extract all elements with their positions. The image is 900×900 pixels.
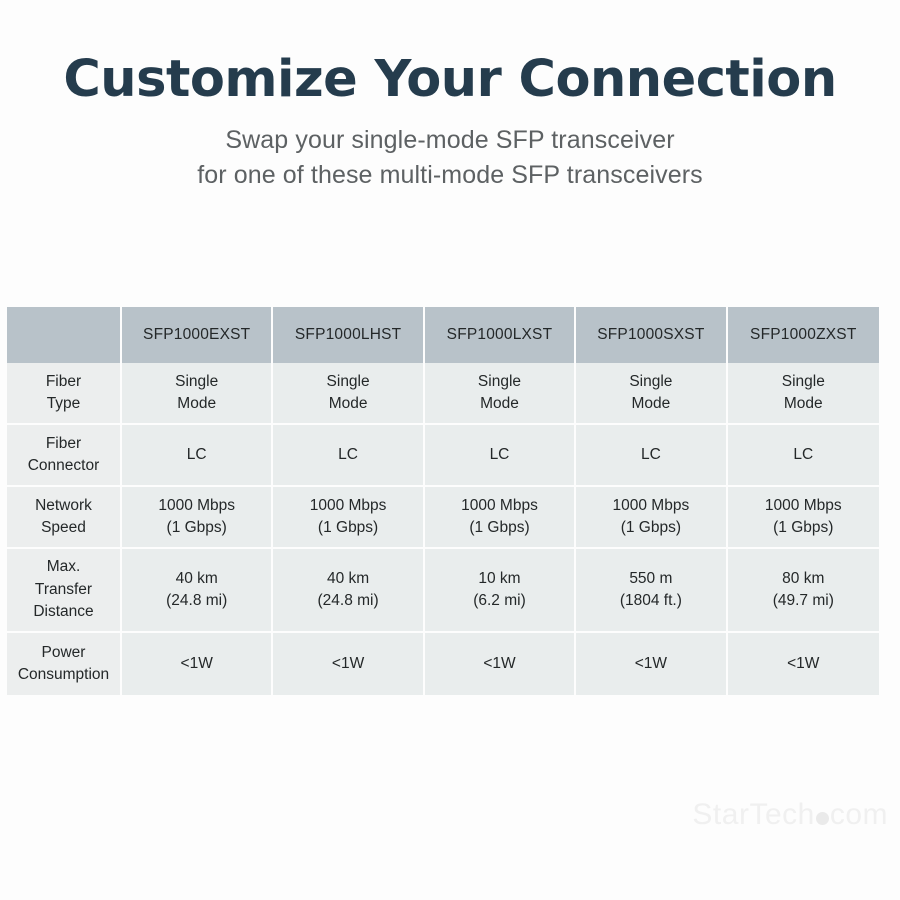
cell-fiber-type-sfp1000lhst: Single Mode bbox=[273, 363, 424, 425]
cell-line-1: 80 km bbox=[732, 568, 875, 590]
row-label-network-speed: Network Speed bbox=[7, 487, 122, 549]
row-label-line-2: Type bbox=[11, 393, 116, 415]
cell-power-consumption-sfp1000zxst: <1W bbox=[728, 633, 879, 695]
column-header-sfp1000sxst: SFP1000SXST bbox=[576, 307, 727, 363]
table-row-fiber-connector: Fiber Connector LC LC LC LC bbox=[7, 425, 879, 487]
row-label-line-1: Fiber bbox=[11, 433, 116, 455]
table-corner-cell bbox=[7, 307, 122, 363]
row-label-line-2: Connector bbox=[11, 455, 116, 477]
row-label-fiber-connector: Fiber Connector bbox=[7, 425, 122, 487]
cell-max-transfer-distance-sfp1000lxst: 10 km (6.2 mi) bbox=[425, 549, 576, 633]
cell-line-1: Single bbox=[126, 371, 267, 393]
cell-line-1: Single bbox=[277, 371, 418, 393]
table-row-max-transfer-distance: Max. Transfer Distance 40 km (24.8 mi) 4… bbox=[7, 549, 879, 633]
cell-power-consumption-sfp1000lhst: <1W bbox=[273, 633, 424, 695]
cell-max-transfer-distance-sfp1000lhst: 40 km (24.8 mi) bbox=[273, 549, 424, 633]
row-label-line-3: Distance bbox=[11, 601, 116, 623]
page-subtitle-line-1: Swap your single-mode SFP transceiver bbox=[0, 123, 900, 158]
watermark-dot-icon bbox=[816, 812, 829, 825]
cell-line-1: <1W bbox=[277, 653, 418, 675]
row-label-fiber-type: Fiber Type bbox=[7, 363, 122, 425]
cell-max-transfer-distance-sfp1000exst: 40 km (24.8 mi) bbox=[122, 549, 273, 633]
table-header: SFP1000EXST SFP1000LHST SFP1000LXST SFP1… bbox=[7, 307, 879, 363]
cell-fiber-type-sfp1000exst: Single Mode bbox=[122, 363, 273, 425]
column-header-sfp1000lhst: SFP1000LHST bbox=[273, 307, 424, 363]
cell-power-consumption-sfp1000lxst: <1W bbox=[425, 633, 576, 695]
cell-line-2: (49.7 mi) bbox=[732, 590, 875, 612]
table-row-network-speed: Network Speed 1000 Mbps (1 Gbps) 1000 Mb… bbox=[7, 487, 879, 549]
cell-fiber-connector-sfp1000lxst: LC bbox=[425, 425, 576, 487]
cell-line-2: Mode bbox=[429, 393, 570, 415]
cell-line-1: 40 km bbox=[126, 568, 267, 590]
table-header-row: SFP1000EXST SFP1000LHST SFP1000LXST SFP1… bbox=[7, 307, 879, 363]
cell-line-1: 1000 Mbps bbox=[277, 495, 418, 517]
column-header-sfp1000lxst: SFP1000LXST bbox=[425, 307, 576, 363]
cell-line-1: LC bbox=[429, 444, 570, 466]
cell-line-1: 1000 Mbps bbox=[429, 495, 570, 517]
cell-line-1: 1000 Mbps bbox=[732, 495, 875, 517]
row-label-line-1: Power bbox=[11, 642, 116, 664]
cell-fiber-connector-sfp1000zxst: LC bbox=[728, 425, 879, 487]
cell-line-2: (1804 ft.) bbox=[580, 590, 721, 612]
cell-line-2: (1 Gbps) bbox=[126, 517, 267, 539]
cell-line-1: LC bbox=[277, 444, 418, 466]
cell-line-1: <1W bbox=[126, 653, 267, 675]
product-comparison-page: Customize Your Connection Swap your sing… bbox=[0, 0, 900, 900]
startech-watermark: StarTechcom bbox=[692, 798, 888, 832]
cell-fiber-connector-sfp1000lhst: LC bbox=[273, 425, 424, 487]
cell-line-1: 40 km bbox=[277, 568, 418, 590]
cell-line-1: 1000 Mbps bbox=[126, 495, 267, 517]
row-label-line-2: Transfer bbox=[11, 579, 116, 601]
cell-line-1: <1W bbox=[580, 653, 721, 675]
cell-network-speed-sfp1000lxst: 1000 Mbps (1 Gbps) bbox=[425, 487, 576, 549]
cell-line-1: <1W bbox=[732, 653, 875, 675]
cell-line-2: Mode bbox=[277, 393, 418, 415]
heading-block: Customize Your Connection Swap your sing… bbox=[0, 52, 900, 192]
cell-power-consumption-sfp1000exst: <1W bbox=[122, 633, 273, 695]
page-title: Customize Your Connection bbox=[0, 52, 900, 107]
cell-line-2: (1 Gbps) bbox=[429, 517, 570, 539]
cell-line-1: LC bbox=[580, 444, 721, 466]
row-label-power-consumption: Power Consumption bbox=[7, 633, 122, 695]
cell-line-2: Mode bbox=[580, 393, 721, 415]
cell-fiber-connector-sfp1000sxst: LC bbox=[576, 425, 727, 487]
cell-network-speed-sfp1000sxst: 1000 Mbps (1 Gbps) bbox=[576, 487, 727, 549]
table-row-fiber-type: Fiber Type Single Mode Single Mode Singl… bbox=[7, 363, 879, 425]
row-label-line-1: Max. bbox=[11, 556, 116, 578]
cell-line-2: (1 Gbps) bbox=[732, 517, 875, 539]
cell-line-2: (1 Gbps) bbox=[580, 517, 721, 539]
cell-line-2: (6.2 mi) bbox=[429, 590, 570, 612]
cell-line-1: LC bbox=[126, 444, 267, 466]
cell-line-1: Single bbox=[429, 371, 570, 393]
cell-line-2: Mode bbox=[732, 393, 875, 415]
spec-table-container: SFP1000EXST SFP1000LHST SFP1000LXST SFP1… bbox=[7, 307, 879, 695]
row-label-line-1: Network bbox=[11, 495, 116, 517]
watermark-text-before: StarTech bbox=[692, 798, 814, 831]
cell-line-1: Single bbox=[580, 371, 721, 393]
table-row-power-consumption: Power Consumption <1W <1W <1W <1W bbox=[7, 633, 879, 695]
cell-line-1: <1W bbox=[429, 653, 570, 675]
cell-network-speed-sfp1000exst: 1000 Mbps (1 Gbps) bbox=[122, 487, 273, 549]
cell-network-speed-sfp1000zxst: 1000 Mbps (1 Gbps) bbox=[728, 487, 879, 549]
page-subtitle-line-2: for one of these multi-mode SFP transcei… bbox=[0, 158, 900, 193]
page-subtitle: Swap your single-mode SFP transceiver fo… bbox=[0, 123, 900, 192]
cell-max-transfer-distance-sfp1000zxst: 80 km (49.7 mi) bbox=[728, 549, 879, 633]
cell-line-2: (24.8 mi) bbox=[126, 590, 267, 612]
cell-line-1: 550 m bbox=[580, 568, 721, 590]
cell-fiber-type-sfp1000zxst: Single Mode bbox=[728, 363, 879, 425]
cell-network-speed-sfp1000lhst: 1000 Mbps (1 Gbps) bbox=[273, 487, 424, 549]
cell-line-2: Mode bbox=[126, 393, 267, 415]
table-body: Fiber Type Single Mode Single Mode Singl… bbox=[7, 363, 879, 695]
cell-line-1: Single bbox=[732, 371, 875, 393]
cell-fiber-type-sfp1000sxst: Single Mode bbox=[576, 363, 727, 425]
cell-line-1: 1000 Mbps bbox=[580, 495, 721, 517]
watermark-text-after: com bbox=[830, 798, 888, 831]
cell-line-2: (24.8 mi) bbox=[277, 590, 418, 612]
cell-line-1: LC bbox=[732, 444, 875, 466]
cell-fiber-connector-sfp1000exst: LC bbox=[122, 425, 273, 487]
column-header-sfp1000zxst: SFP1000ZXST bbox=[728, 307, 879, 363]
cell-max-transfer-distance-sfp1000sxst: 550 m (1804 ft.) bbox=[576, 549, 727, 633]
row-label-line-2: Consumption bbox=[11, 664, 116, 686]
cell-fiber-type-sfp1000lxst: Single Mode bbox=[425, 363, 576, 425]
column-header-sfp1000exst: SFP1000EXST bbox=[122, 307, 273, 363]
row-label-line-1: Fiber bbox=[11, 371, 116, 393]
spec-comparison-table: SFP1000EXST SFP1000LHST SFP1000LXST SFP1… bbox=[7, 307, 879, 695]
row-label-max-transfer-distance: Max. Transfer Distance bbox=[7, 549, 122, 633]
cell-line-1: 10 km bbox=[429, 568, 570, 590]
row-label-line-2: Speed bbox=[11, 517, 116, 539]
cell-line-2: (1 Gbps) bbox=[277, 517, 418, 539]
cell-power-consumption-sfp1000sxst: <1W bbox=[576, 633, 727, 695]
